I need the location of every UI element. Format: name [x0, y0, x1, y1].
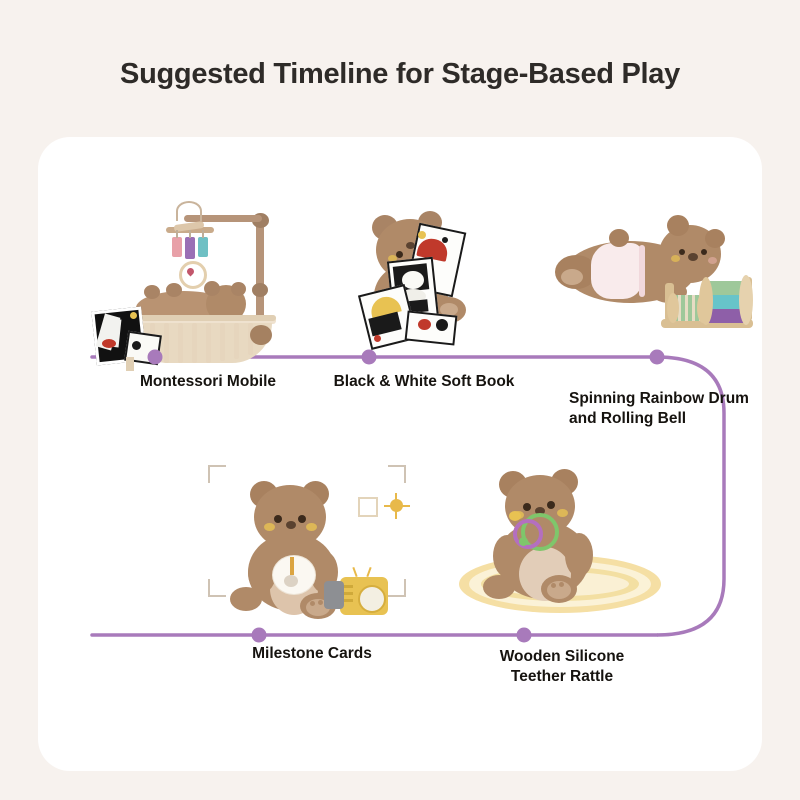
timeline-dot-montessori-mobile[interactable] — [148, 350, 163, 365]
timeline-node-montessori-mobile[interactable]: Montessori Mobile — [88, 197, 328, 347]
timeline-dot-wooden-silicone-teether[interactable] — [517, 628, 532, 643]
node-label: Wooden Silicone Teether Rattle — [432, 647, 692, 686]
timeline-node-milestone-cards[interactable]: Milestone Cards — [192, 459, 432, 609]
timeline-card: Montessori Mobile — [38, 137, 762, 771]
node-label: Spinning Rainbow Drum and Rolling Bell — [569, 389, 799, 428]
frame-corner-icon — [208, 579, 226, 597]
timeline-node-black-white-soft-book[interactable]: Black & White Soft Book — [314, 197, 534, 347]
frame-corner-icon — [208, 465, 226, 483]
node-label: Black & White Soft Book — [294, 372, 554, 392]
infographic-root: Suggested Timeline for Stage-Based Play — [0, 0, 800, 800]
illustration-bear-in-crib-with-mobile — [88, 197, 328, 347]
illustration-bear-tummy-time-with-drum — [555, 207, 785, 357]
frame-corner-icon — [388, 465, 406, 483]
page-title: Suggested Timeline for Stage-Based Play — [0, 58, 800, 91]
timeline-dot-black-white-soft-book[interactable] — [362, 350, 377, 365]
illustration-bear-on-mat-with-teether — [447, 459, 677, 609]
frame-corner-icon — [388, 579, 406, 597]
illustration-bear-holding-soft-book — [314, 197, 534, 347]
timeline-node-wooden-silicone-teether[interactable]: Wooden Silicone Teether Rattle — [447, 459, 677, 609]
node-label: Milestone Cards — [182, 644, 442, 664]
illustration-bear-with-milestone-card-and-camera — [192, 459, 432, 609]
timeline-dot-milestone-cards[interactable] — [252, 628, 267, 643]
timeline-dot-spinning-rainbow-drum[interactable] — [650, 350, 665, 365]
timeline-node-spinning-rainbow-drum[interactable]: Spinning Rainbow Drum and Rolling Bell — [555, 207, 785, 357]
